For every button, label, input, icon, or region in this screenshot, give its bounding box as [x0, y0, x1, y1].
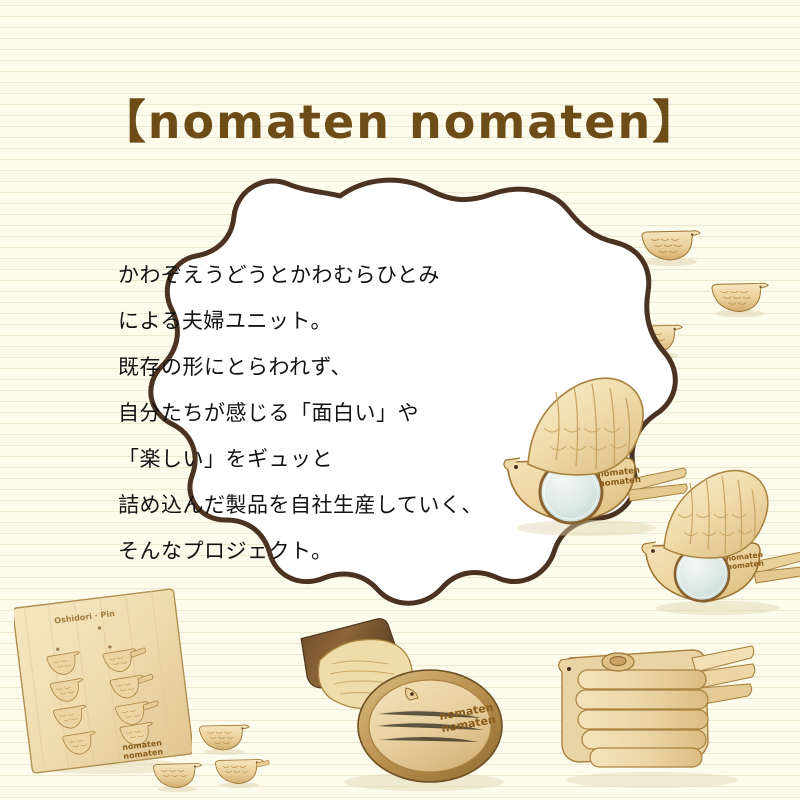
- page-root: 【nomaten nomaten】: [0, 0, 800, 800]
- bird-pin-icon: [212, 752, 270, 792]
- page-title: 【nomaten nomaten】: [100, 86, 701, 152]
- pin-card-icon: Oshidori · Pin: [14, 586, 192, 776]
- bird-round-tray: nomaten nomaten: [284, 614, 514, 799]
- center-knob: [602, 653, 634, 671]
- stacked-slabs: [576, 670, 708, 767]
- bird-magnifier-small: nomaten nomaten: [636, 462, 800, 627]
- bird-pin-loose: [150, 756, 208, 800]
- page-title-wrap: 【nomaten nomaten】: [0, 86, 800, 152]
- bird-coaster-stack: [556, 632, 756, 797]
- bird-pin-loose: [212, 752, 270, 797]
- coaster-stack-icon: [556, 632, 756, 792]
- round-tray-icon: nomaten nomaten: [284, 614, 514, 794]
- bird-pin-icon: [150, 756, 208, 796]
- bird-magnifier-icon: nomaten nomaten: [636, 462, 800, 622]
- bird-pin-display-card: Oshidori · Pin: [14, 586, 192, 781]
